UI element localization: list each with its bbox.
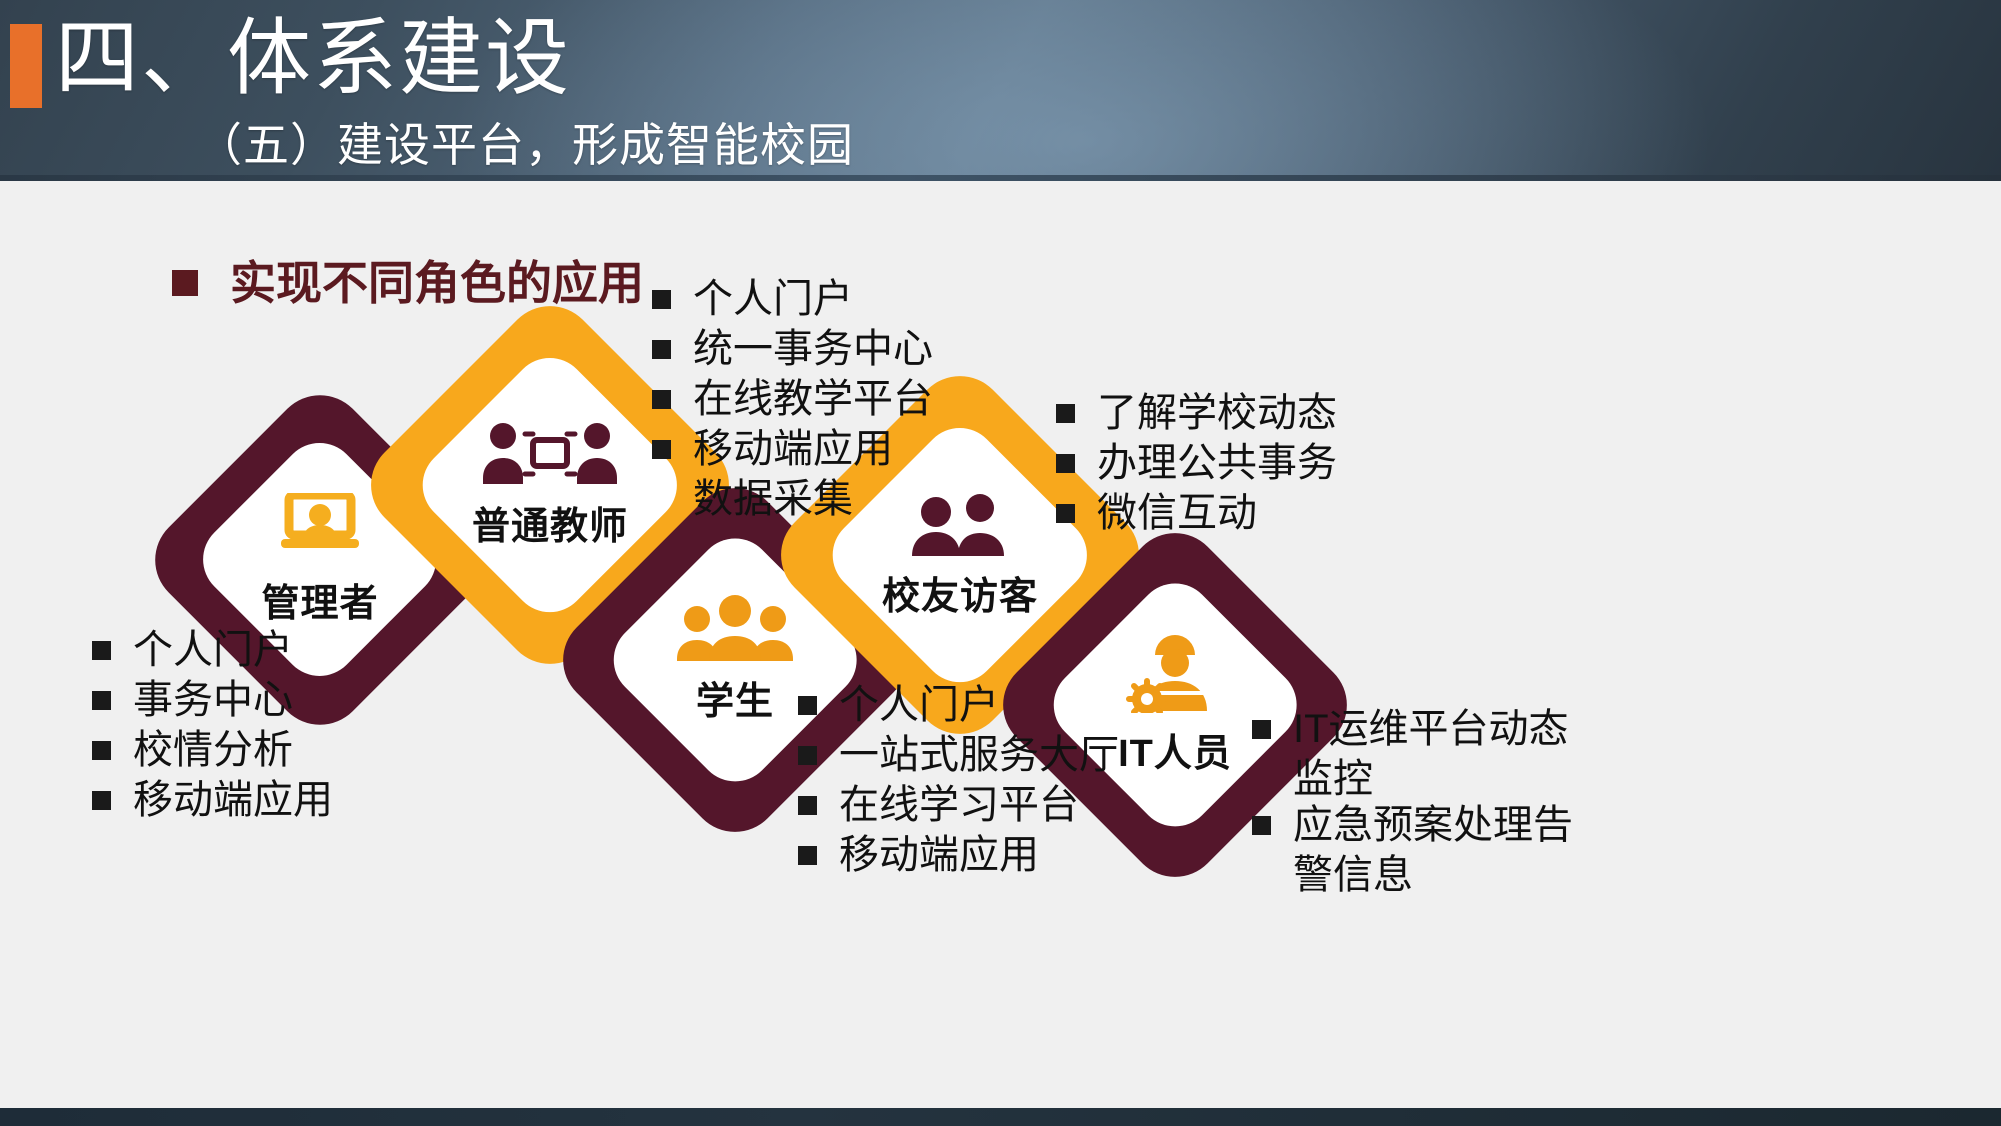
list-item-label: 在线教学平台 [693, 376, 933, 422]
bullet-square-icon [798, 746, 817, 765]
list-item: 个人门户 [652, 276, 933, 322]
list-item: 在线教学平台 [652, 376, 933, 422]
list-item: 一站式服务大厅 [798, 732, 1119, 778]
list-item-continuation: 数据采集 [652, 476, 933, 522]
node-label-manager: 管理者 [261, 572, 378, 627]
section-heading-label: 实现不同角色的应用 [230, 258, 644, 308]
list-item: 移动端应用 [92, 777, 333, 823]
bullet-square-icon [1056, 454, 1075, 473]
teachers-group-icon [475, 420, 625, 491]
list-item: 了解学校动态 [1056, 390, 1337, 436]
list-item: 统一事务中心 [652, 326, 933, 372]
list-item: 应急预案处理告 [1252, 802, 1573, 848]
list-item: 个人门户 [798, 682, 1119, 728]
students-group-icon [671, 595, 799, 666]
bullet-list-it-staff: IT运维平台动态 监控 应急预案处理告 警信息 [1252, 706, 1573, 898]
list-item-label: 移动端应用 [133, 777, 333, 823]
bullet-list-student: 个人门户 一站式服务大厅 在线学习平台 移动端应用 [798, 682, 1119, 882]
bullet-square-icon [92, 641, 111, 660]
bullet-square-icon [1252, 816, 1271, 835]
bullet-list-teacher: 个人门户 统一事务中心 在线教学平台 移动端应用 数据采集 [652, 276, 933, 522]
list-item: 校情分析 [92, 727, 333, 773]
node-label-alumni: 校友访客 [882, 565, 1038, 620]
page-subtitle: （五）建设平台，形成智能校园 [196, 118, 854, 172]
list-item-label: 个人门户 [839, 682, 999, 728]
list-item-label: 一站式服务大厅 [839, 732, 1119, 778]
bullet-square-icon [92, 791, 111, 810]
list-item-label: 个人门户 [133, 627, 293, 673]
node-label-student: 学生 [696, 670, 774, 725]
list-item-label: 移动端应用 [839, 832, 1039, 878]
slide-footer-bar [0, 1108, 2001, 1126]
list-item-label: 微信互动 [1097, 490, 1257, 536]
bullet-square-icon [798, 796, 817, 815]
list-item-label: IT运维平台动态 [1293, 706, 1569, 752]
list-item: 事务中心 [92, 677, 333, 723]
list-item: 移动端应用 [652, 426, 933, 472]
list-item-label: 事务中心 [133, 677, 293, 723]
list-item: 移动端应用 [798, 832, 1119, 878]
section-bullet-square-icon [172, 270, 198, 296]
list-item-label: 办理公共事务 [1097, 440, 1337, 486]
list-item: 微信互动 [1056, 490, 1337, 536]
list-item-label: 移动端应用 [693, 426, 893, 472]
it-worker-gear-icon [1123, 633, 1227, 718]
bullet-square-icon [652, 440, 671, 459]
list-item-wrap-line: 监控 [1252, 756, 1573, 802]
list-item-label: 了解学校动态 [1097, 390, 1337, 436]
manager-desktop-icon [275, 493, 365, 568]
page-title: 四、体系建设 [55, 10, 571, 106]
list-item-label: 在线学习平台 [839, 782, 1079, 828]
slide-header: 四、体系建设 （五）建设平台，形成智能校园 [0, 0, 2001, 181]
list-item-label: 应急预案处理告 [1293, 802, 1573, 848]
bullet-square-icon [1056, 504, 1075, 523]
bullet-square-icon [798, 846, 817, 865]
list-item: 在线学习平台 [798, 782, 1119, 828]
list-item-label: 校情分析 [133, 727, 293, 773]
bullet-square-icon [652, 290, 671, 309]
bullet-square-icon [652, 390, 671, 409]
bullet-list-manager: 个人门户 事务中心 校情分析 移动端应用 [92, 627, 333, 827]
bullet-square-icon [92, 741, 111, 760]
bullet-list-alumni: 了解学校动态 办理公共事务 微信互动 [1056, 390, 1337, 540]
list-item: 个人门户 [92, 627, 333, 673]
header-accent-bar [10, 24, 42, 108]
bullet-square-icon [652, 340, 671, 359]
list-item-label: 统一事务中心 [693, 326, 933, 372]
list-item-label: 个人门户 [693, 276, 853, 322]
list-item: IT运维平台动态 [1252, 706, 1573, 752]
list-item: 办理公共事务 [1056, 440, 1337, 486]
bullet-square-icon [1056, 404, 1075, 423]
list-item-wrap-line: 警信息 [1252, 852, 1573, 898]
node-label-it-staff: IT人员 [1118, 722, 1232, 777]
bullet-square-icon [1252, 720, 1271, 739]
bullet-square-icon [92, 691, 111, 710]
section-heading: 实现不同角色的应用 [172, 258, 644, 308]
bullet-square-icon [798, 696, 817, 715]
